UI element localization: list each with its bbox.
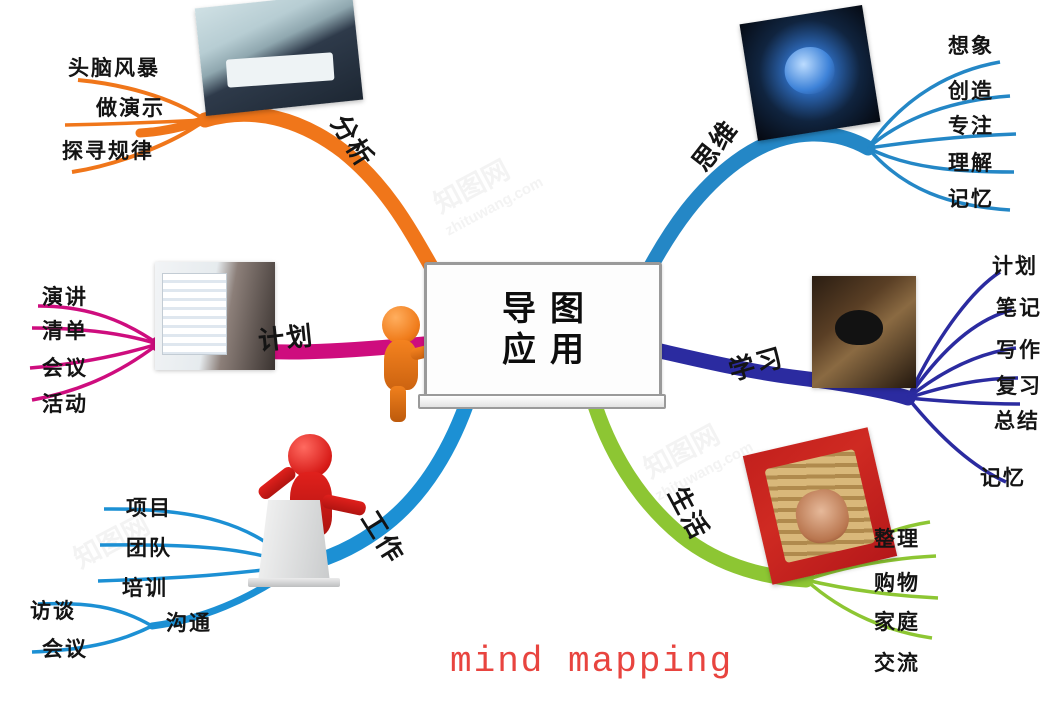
footer-caption: mind mapping	[450, 641, 733, 682]
leaf-work-3[interactable]: 沟通	[166, 607, 212, 637]
business-meeting-photo	[195, 0, 363, 116]
leaf-planning-0[interactable]: 演讲	[42, 281, 88, 311]
brain-network-photo	[740, 5, 881, 141]
leaf-thinking-2[interactable]: 专注	[948, 110, 994, 140]
leaf-work-0[interactable]: 项目	[126, 492, 172, 522]
child-studying-photo	[812, 276, 916, 388]
girl-with-frame-photo	[743, 427, 897, 584]
leaf-thinking-4[interactable]: 记忆	[948, 183, 994, 213]
leaf-thinking-3[interactable]: 理解	[948, 147, 994, 177]
branch-title-analysis[interactable]: 分析	[323, 107, 384, 174]
leaf-thinking-0[interactable]: 想象	[948, 30, 994, 60]
leaf-analysis-2[interactable]: 探寻规律	[62, 135, 154, 165]
leaf-analysis-0[interactable]: 头脑风暴	[68, 52, 160, 82]
leaf-life-1[interactable]: 购物	[874, 567, 920, 597]
leaf-planning-1[interactable]: 清单	[42, 315, 88, 345]
leaf-study-2[interactable]: 写作	[996, 334, 1042, 364]
center-node[interactable]: 导图 应用	[424, 262, 662, 398]
leaf-work-sub-1[interactable]: 会议	[42, 633, 88, 663]
orange-figure-head	[382, 306, 420, 344]
leaf-analysis-1[interactable]: 做演示	[96, 92, 165, 122]
mind-map-canvas: 知图网 zhituwang.com 知图网 zhituwang.com 知图网	[0, 0, 1047, 702]
branch-title-planning[interactable]: 计划	[256, 315, 316, 358]
branch-title-thinking[interactable]: 思维	[682, 111, 746, 178]
leaf-thinking-1[interactable]: 创造	[948, 75, 994, 105]
leaf-work-2[interactable]: 培训	[122, 572, 168, 602]
leaf-life-3[interactable]: 交流	[874, 647, 920, 677]
center-node-line-2: 应用	[488, 330, 598, 371]
leaf-work-sub-0[interactable]: 访谈	[30, 595, 76, 625]
whiteboard-tray	[418, 394, 666, 409]
leaf-study-5[interactable]: 记忆	[980, 462, 1026, 492]
podium-base	[248, 578, 340, 587]
leaf-study-1[interactable]: 笔记	[996, 292, 1042, 322]
woman-presenting-photo	[155, 262, 275, 370]
leaf-study-3[interactable]: 复习	[996, 370, 1042, 400]
leaf-work-1[interactable]: 团队	[126, 532, 172, 562]
leaf-life-0[interactable]: 整理	[874, 523, 920, 553]
podium	[258, 500, 330, 582]
leaf-study-0[interactable]: 计划	[992, 250, 1038, 280]
leaf-planning-3[interactable]: 活动	[42, 388, 88, 418]
leaf-study-4[interactable]: 总结	[994, 405, 1040, 435]
leaf-life-2[interactable]: 家庭	[874, 606, 920, 636]
leaf-planning-2[interactable]: 会议	[42, 352, 88, 382]
center-node-line-1: 导图	[488, 289, 598, 330]
branch-title-study[interactable]: 学习	[724, 337, 788, 388]
orange-figure-leg	[390, 386, 406, 422]
